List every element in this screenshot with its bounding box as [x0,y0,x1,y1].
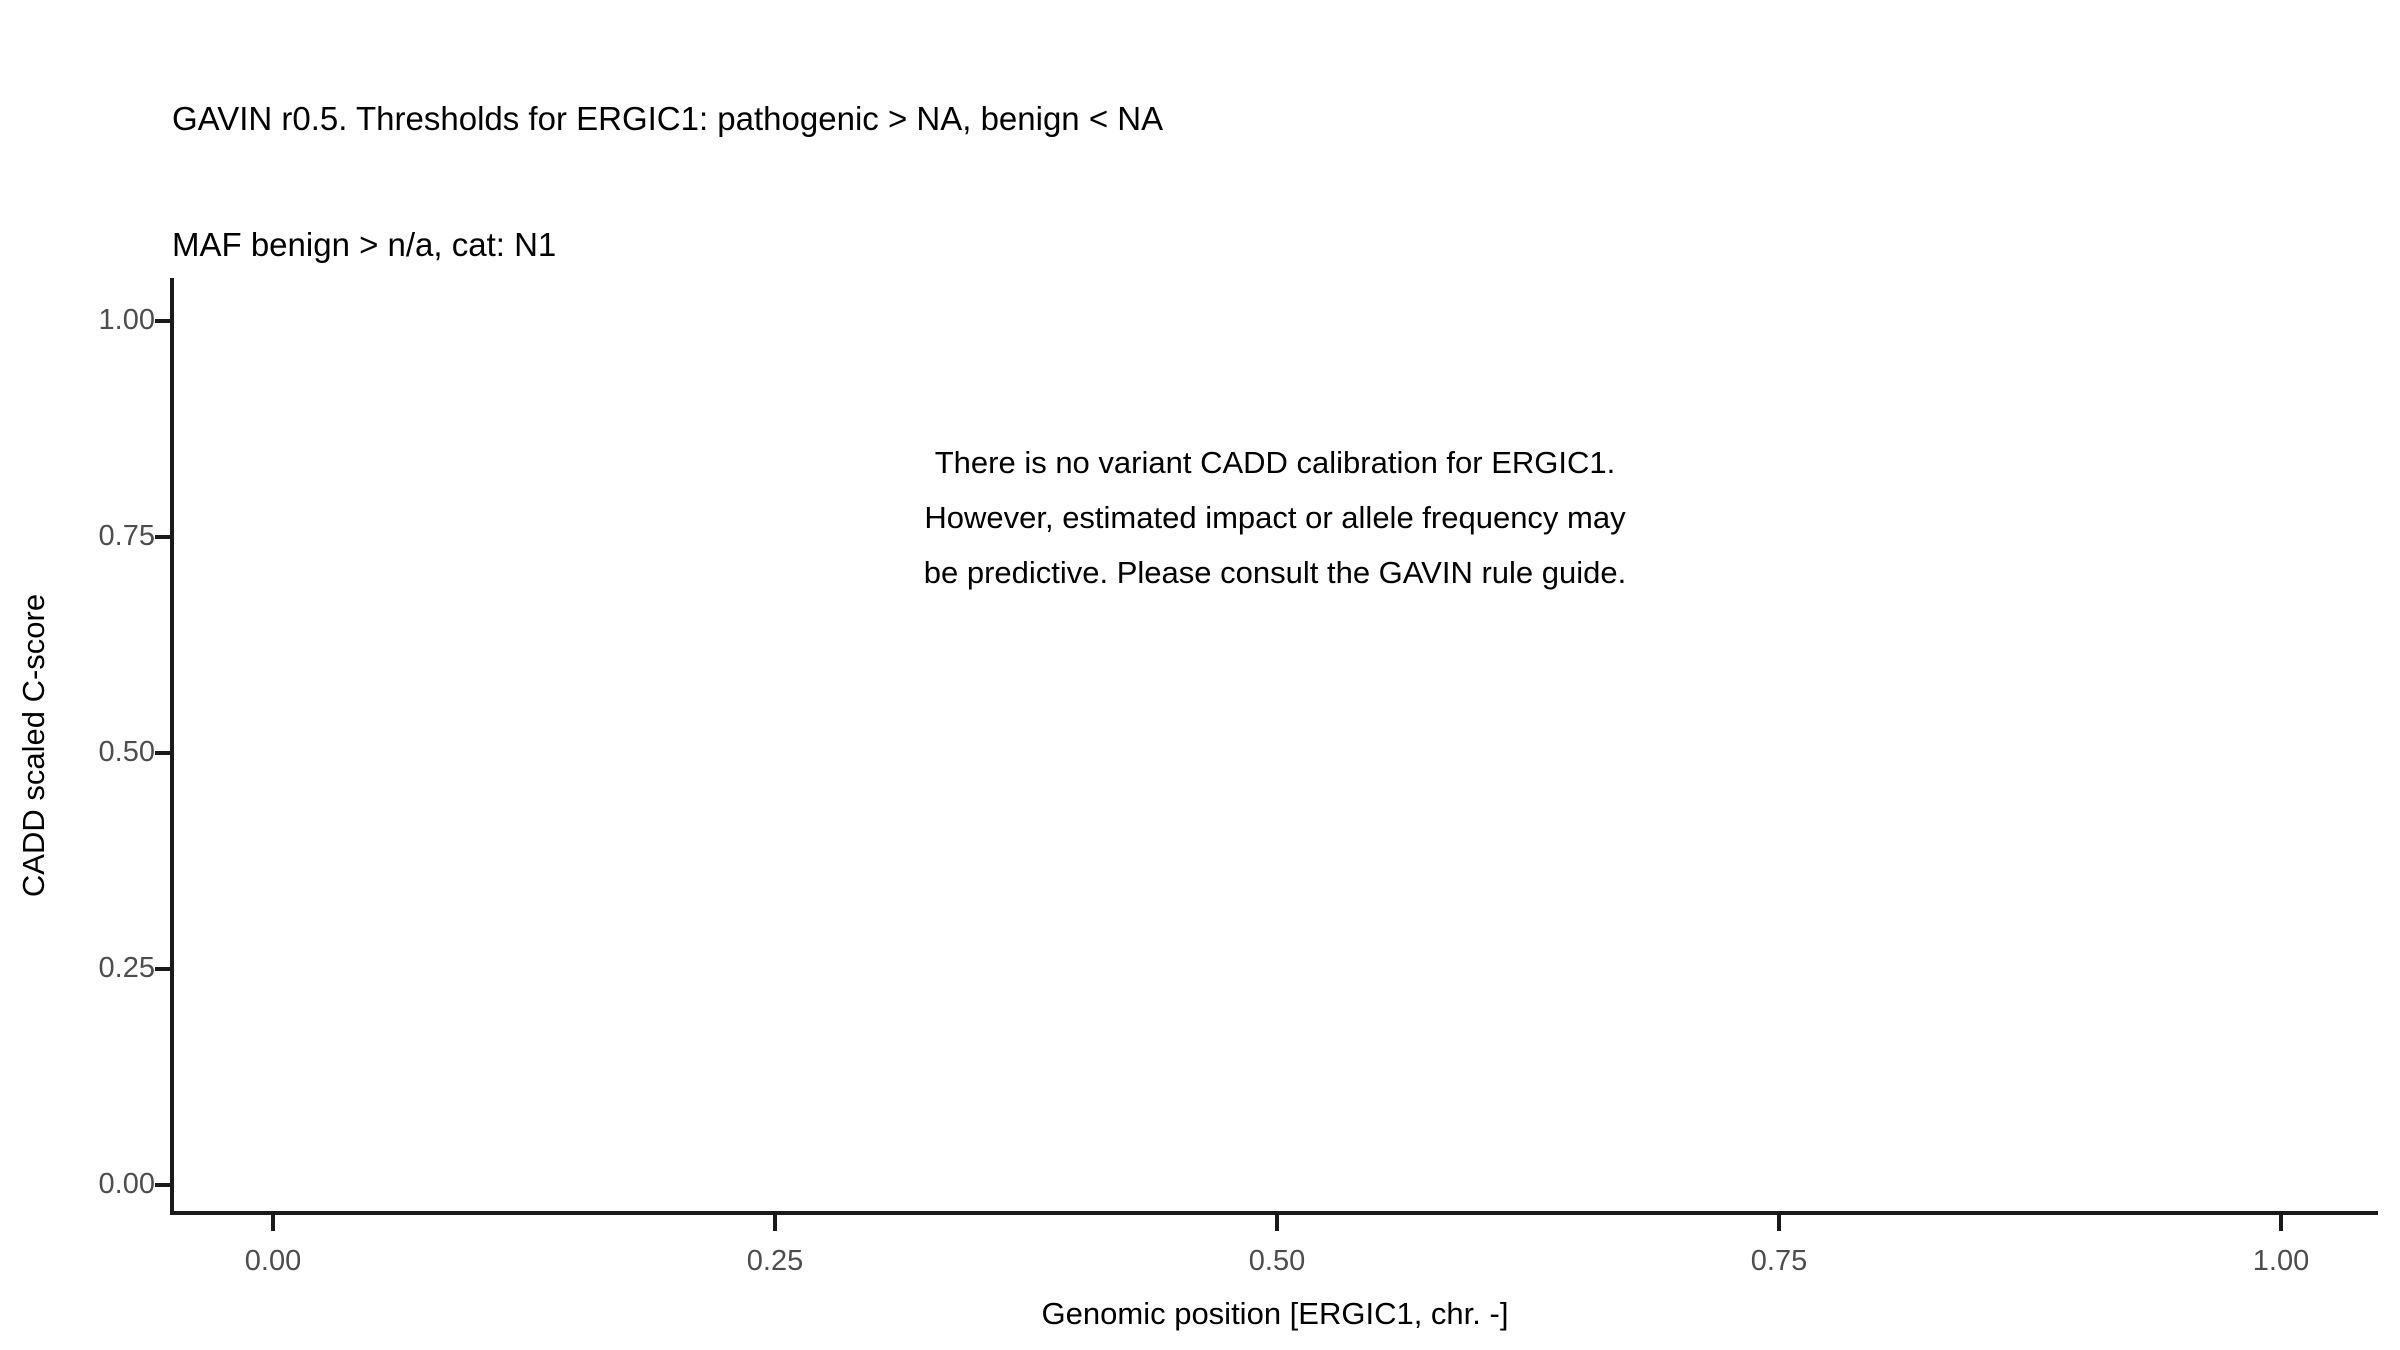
y-tick-mark-4 [155,319,171,323]
y-tick-mark-3 [155,535,171,539]
plot-root: GAVIN r0.5. Thresholds for ERGIC1: patho… [0,0,2400,1350]
y-tick-mark-2 [155,751,171,755]
plot-title-line-2: MAF benign > n/a, cat: N1 [172,224,2372,266]
y-axis-title: CADD scaled C-score [14,278,54,1213]
x-axis-title: Genomic position [ERGIC1, chr. -] [172,1296,2378,1332]
y-axis-line [170,278,174,1215]
y-tick-mark-1 [155,967,171,971]
x-tick-label-4: 1.00 [2161,1245,2400,1277]
panel-annotation: There is no variant CADD calibration for… [172,435,2378,600]
panel-annotation-line-1: There is no variant CADD calibration for… [172,435,2378,490]
panel-annotation-line-2: However, estimated impact or allele freq… [172,490,2378,545]
plot-panel [172,278,2378,1213]
x-tick-mark-4 [2279,1215,2283,1231]
x-tick-label-3: 0.75 [1659,1245,1899,1277]
x-tick-mark-2 [1275,1215,1279,1231]
x-tick-label-1: 0.25 [655,1245,895,1277]
y-tick-mark-0 [155,1183,171,1187]
x-tick-mark-1 [773,1215,777,1231]
plot-title-line-1: GAVIN r0.5. Thresholds for ERGIC1: patho… [172,98,2372,140]
x-tick-mark-3 [1777,1215,1781,1231]
x-axis-line [170,1211,2378,1215]
x-tick-mark-0 [271,1215,275,1231]
panel-annotation-line-3: be predictive. Please consult the GAVIN … [172,545,2378,600]
x-tick-label-2: 0.50 [1157,1245,1397,1277]
x-tick-label-0: 0.00 [153,1245,393,1277]
